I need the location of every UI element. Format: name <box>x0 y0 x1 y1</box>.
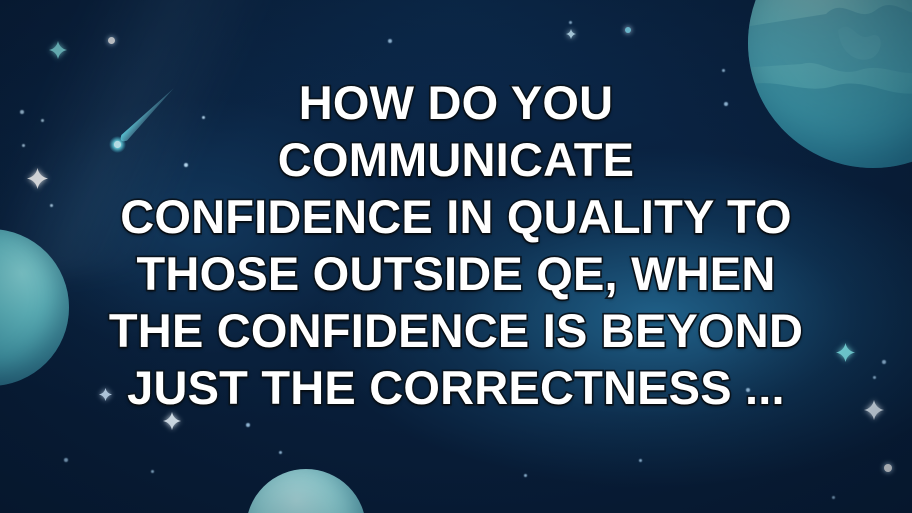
caption-line: COMMUNICATE <box>6 131 906 188</box>
caption-line: JUST THE CORRECTNESS ... <box>6 359 906 416</box>
quote-caption: HOW DO YOU COMMUNICATE CONFIDENCE IN QUA… <box>0 74 912 416</box>
caption-line: CONFIDENCE IN QUALITY TO <box>6 188 906 245</box>
caption-line: HOW DO YOU <box>6 74 906 131</box>
caption-line: THE CONFIDENCE IS BEYOND <box>6 302 906 359</box>
space-quote-slide: HOW DO YOU COMMUNICATE CONFIDENCE IN QUA… <box>0 0 912 513</box>
caption-line: THOSE OUTSIDE QE, WHEN <box>6 245 906 302</box>
